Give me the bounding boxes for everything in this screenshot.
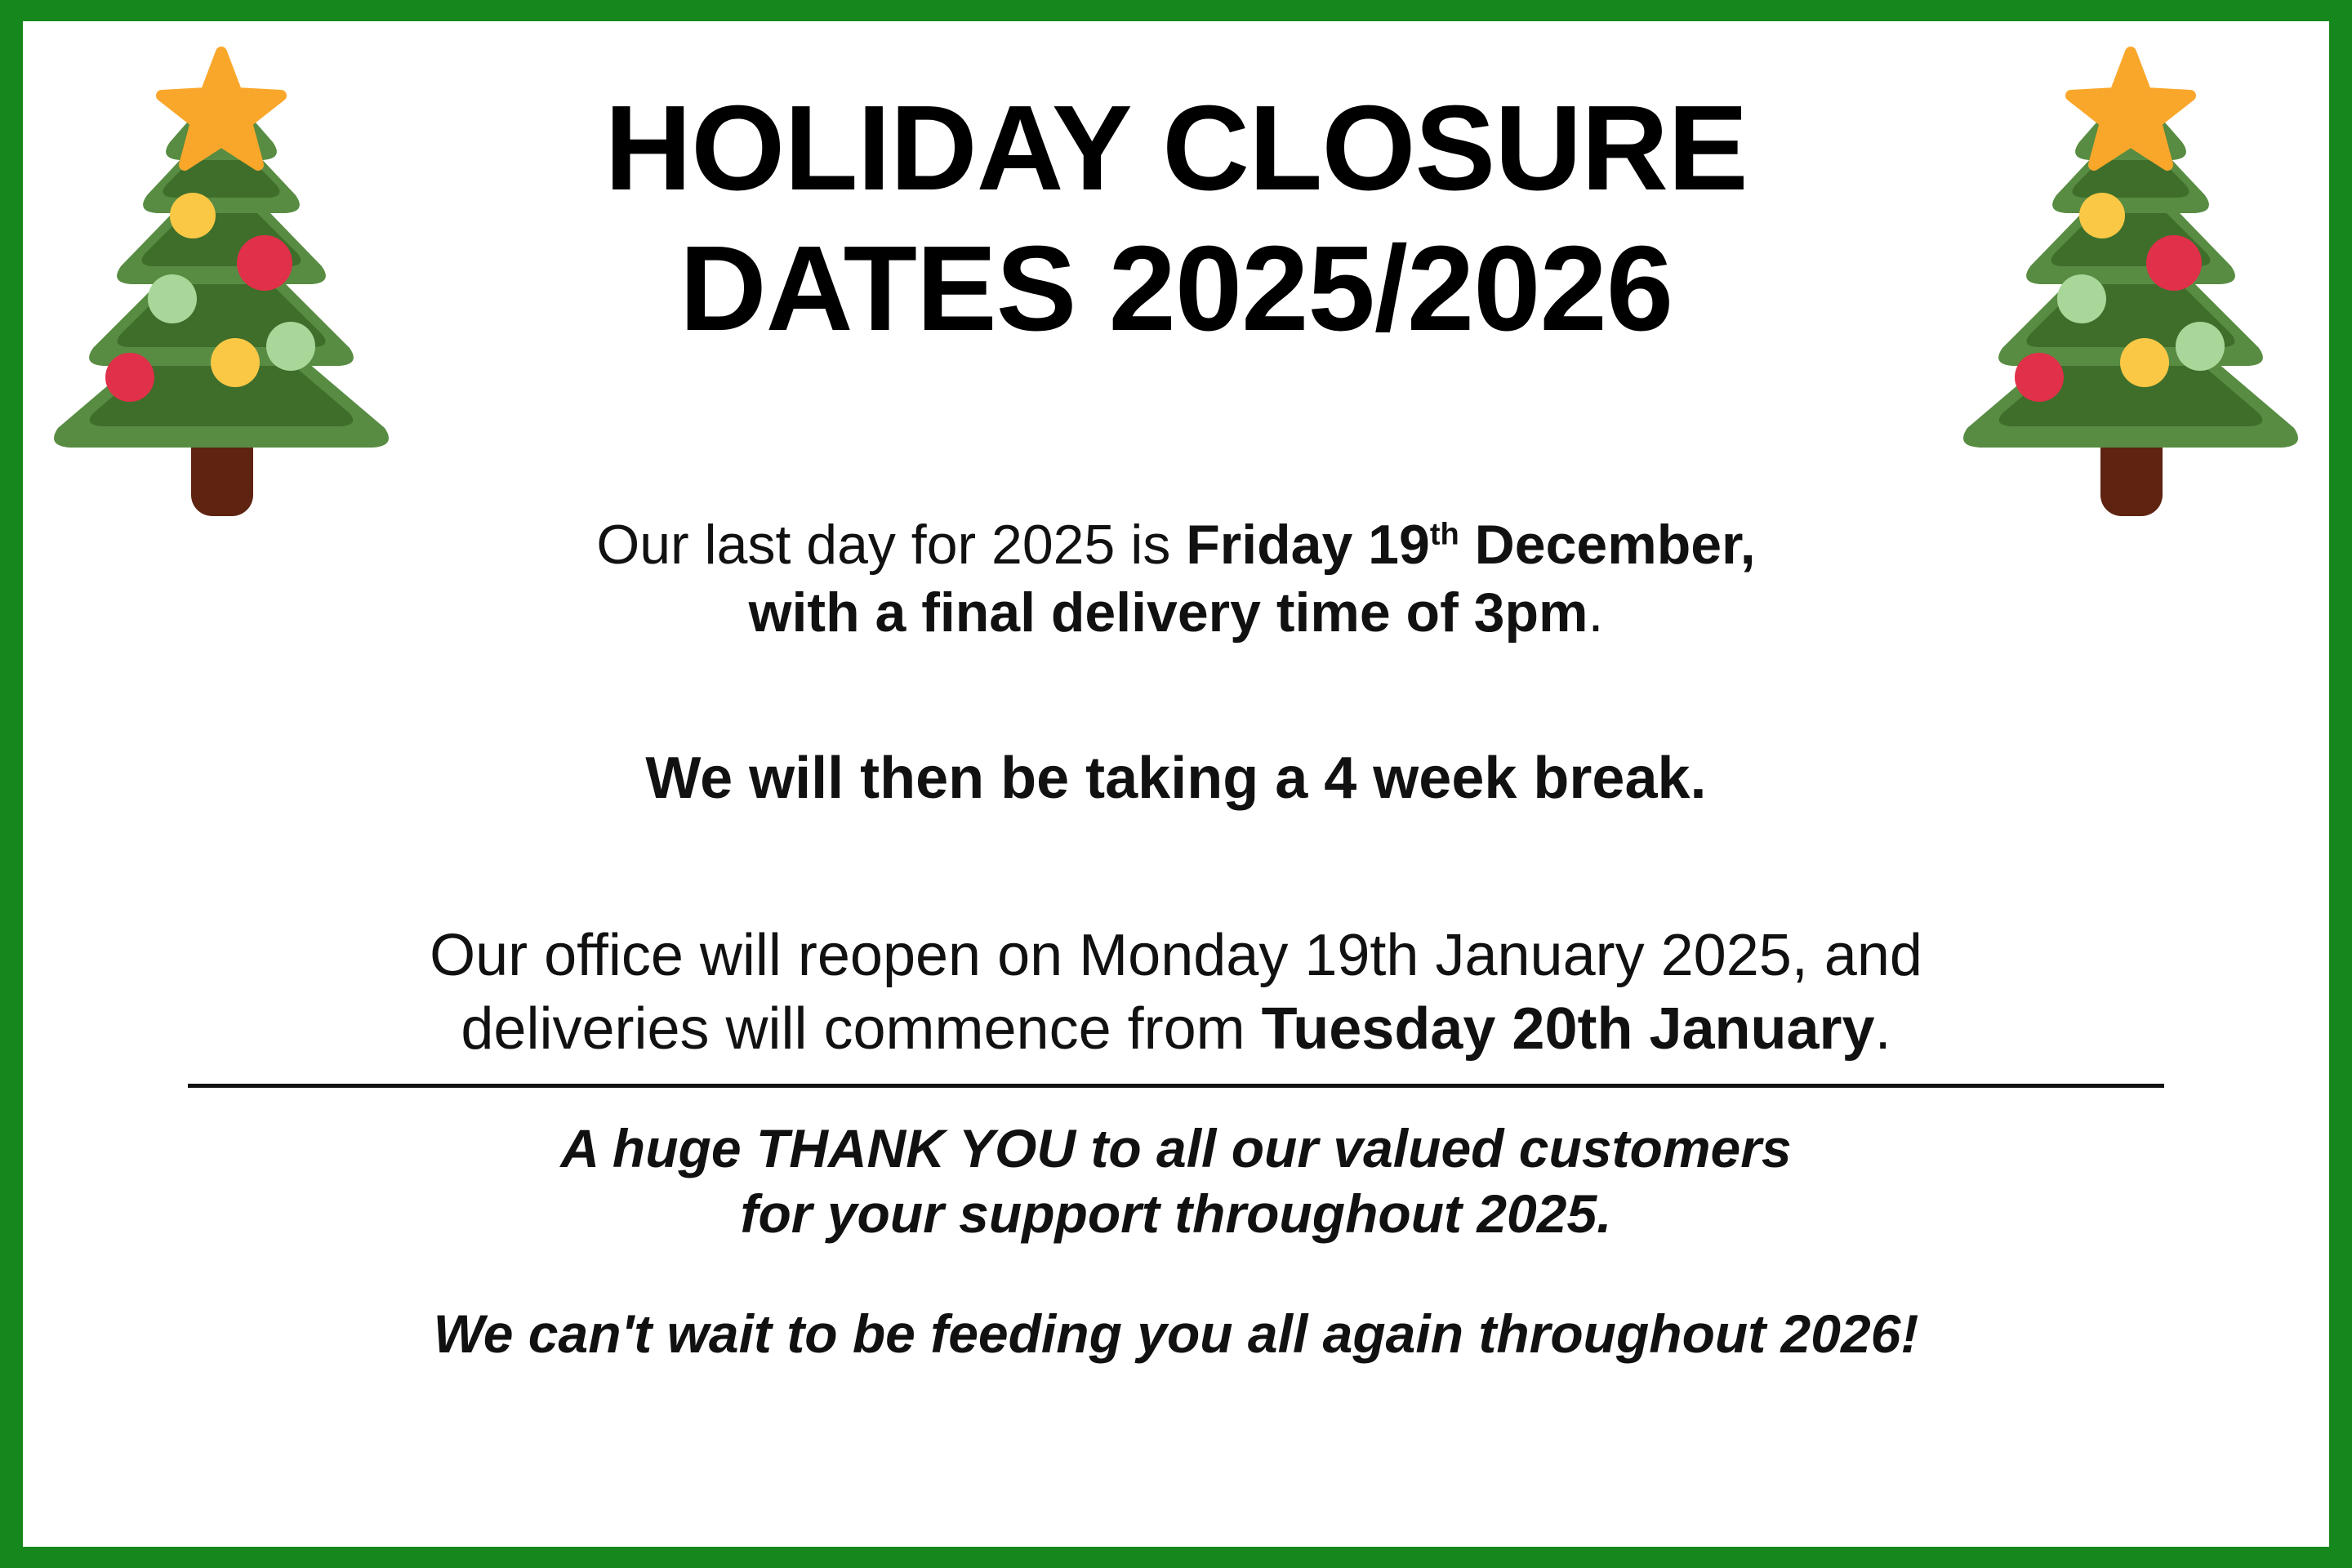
last-day-lead: Our last day for 2025 is	[596, 514, 1186, 576]
closing-message: We can't wait to be feeding you all agai…	[145, 1301, 2207, 1367]
reopen-line-2-prefix: deliveries will commence from	[461, 996, 1261, 1062]
last-day-bold-date: Friday 19	[1186, 514, 1430, 576]
reopen-line-1: Our office will reopen on Monday 19th Ja…	[430, 923, 1922, 988]
reopen-notice: Our office will reopen on Monday 19th Ja…	[145, 920, 2207, 1066]
christmas-tree-icon-right	[1955, 44, 2306, 534]
page-title-line-1: HOLIDAY CLOSURE	[407, 78, 1945, 219]
thank-you-message: A huge THANK YOU to all our valued custo…	[145, 1116, 2207, 1247]
last-day-bold-month: December,	[1459, 514, 1756, 576]
last-day-notice: Our last day for 2025 is Friday 19th Dec…	[145, 511, 2207, 647]
thank-you-line-1: A huge THANK YOU to all our valued custo…	[560, 1118, 1791, 1178]
page-title-line-2: DATES 2025/2026	[407, 219, 1945, 359]
deliveries-resume-date: Tuesday 20th January	[1262, 996, 1875, 1062]
christmas-tree-icon-left	[46, 44, 397, 534]
reopen-line-2-suffix: .	[1875, 996, 1891, 1062]
page-title: HOLIDAY CLOSURE DATES 2025/2026	[407, 78, 1945, 359]
ordinal-suffix: th	[1430, 517, 1459, 551]
break-notice: We will then be taking a 4 week break.	[145, 743, 2207, 813]
section-divider	[188, 1084, 2164, 1088]
thank-you-line-2: for your support throughout 2025.	[741, 1183, 1612, 1244]
last-day-period: .	[1588, 581, 1603, 644]
notice-body: Our last day for 2025 is Friday 19th Dec…	[145, 511, 2207, 1366]
poster-canvas: HOLIDAY CLOSURE DATES 2025/2026 Our last…	[23, 21, 2329, 1547]
final-delivery-time: with a final delivery time of 3pm	[749, 581, 1588, 644]
poster-frame: HOLIDAY CLOSURE DATES 2025/2026 Our last…	[0, 0, 2352, 1568]
